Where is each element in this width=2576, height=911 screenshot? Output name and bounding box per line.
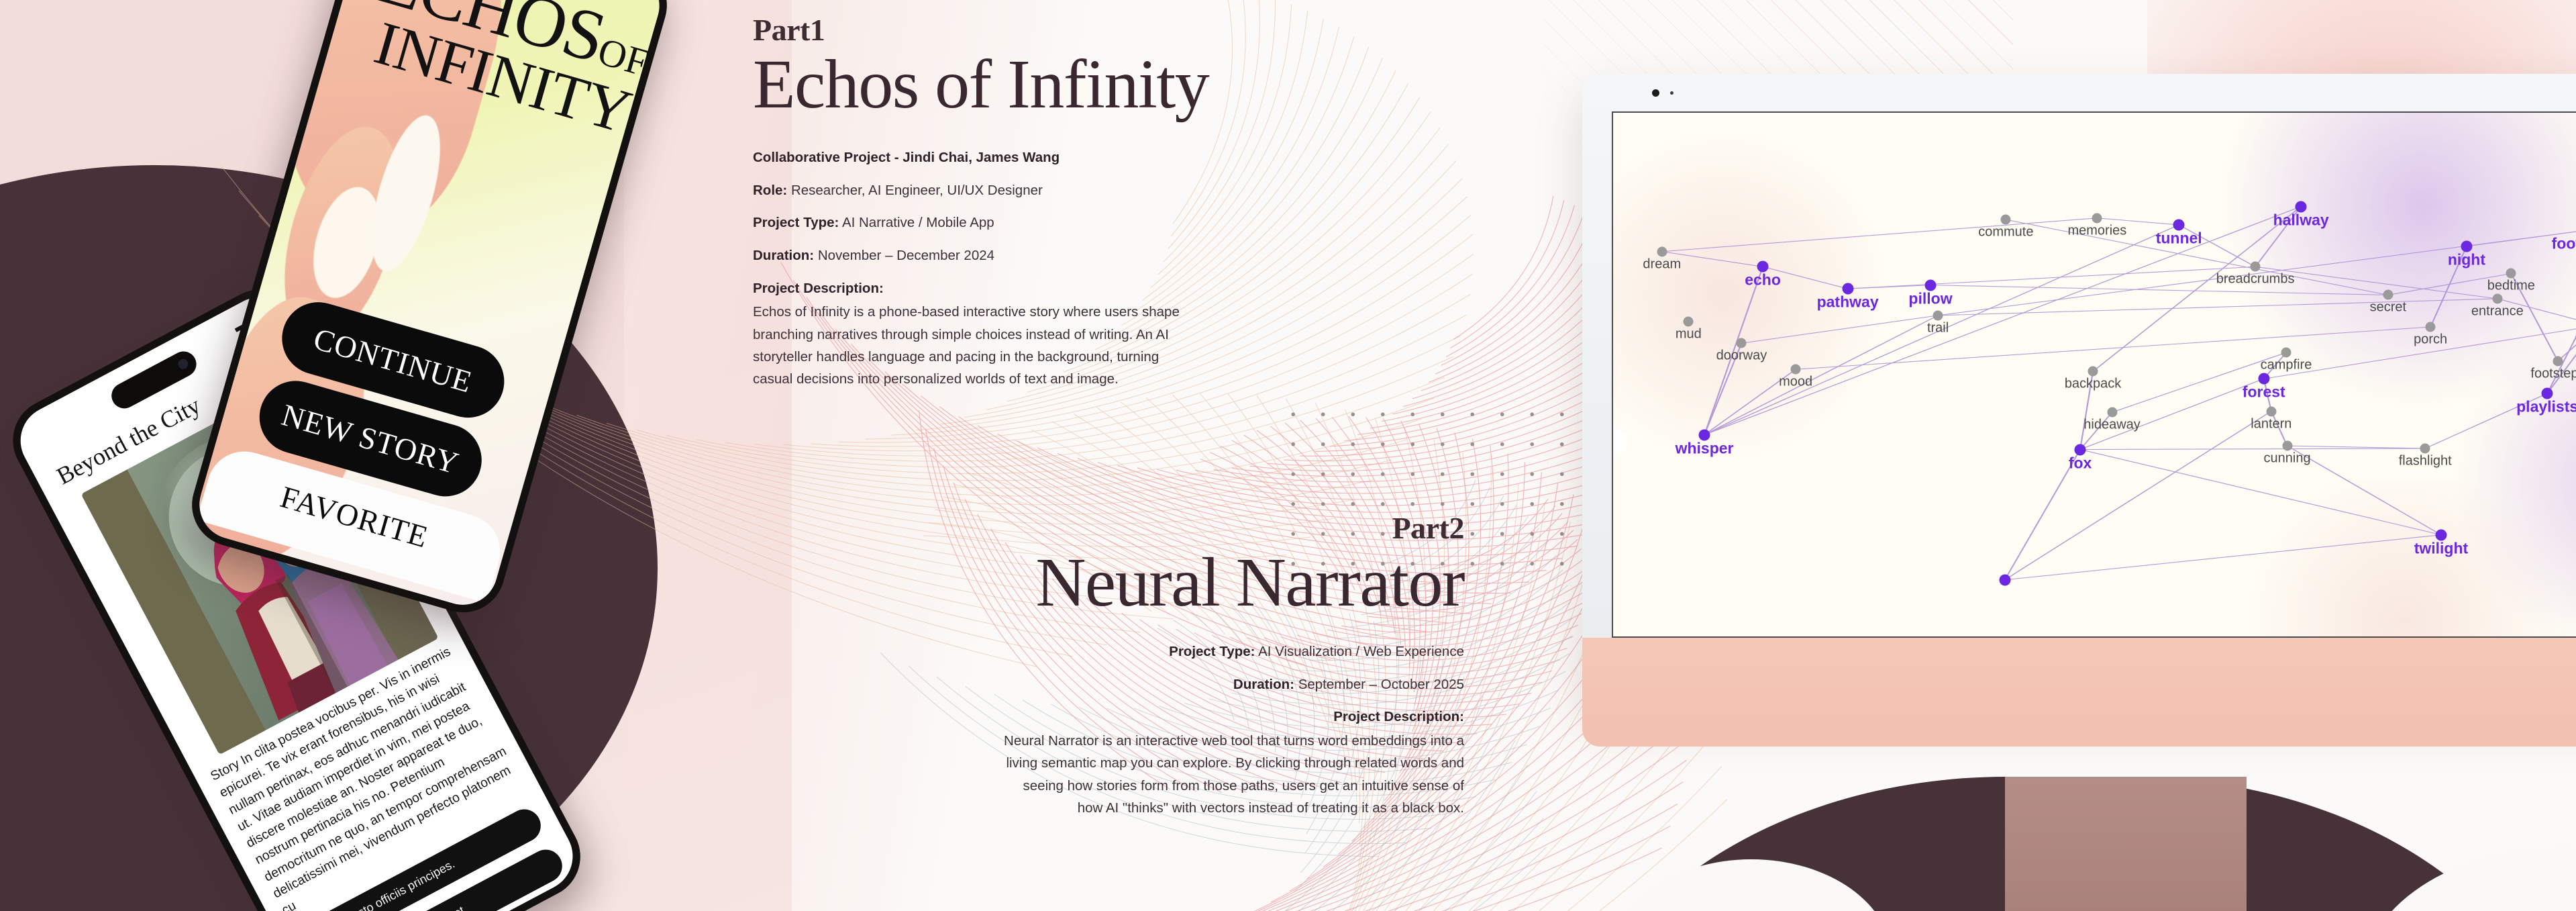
duration-value-2: September – October 2025 xyxy=(1298,677,1464,692)
role-value: Researcher, AI Engineer, UI/UX Designer xyxy=(791,183,1043,198)
part-one-description: Echos of Infinity is a phone-based inter… xyxy=(753,301,1196,390)
node-dot-icon xyxy=(2281,348,2291,358)
map-node-footsteps[interactable]: footsteps xyxy=(2553,356,2563,366)
node-label: footprints xyxy=(2552,234,2576,252)
node-label: pathway xyxy=(1817,293,1879,311)
project-type-label: Project Type: xyxy=(753,215,839,230)
project-type-value-2: AI Visualization / Web Experience xyxy=(1258,644,1464,659)
collaborators-text: Collaborative Project - Jindi Chai, Jame… xyxy=(753,150,1060,165)
node-label: trail xyxy=(1927,320,1949,336)
map-node-pathway[interactable]: pathway xyxy=(1842,283,1853,295)
poster-canvas: Part1 Echos of Infinity Collaborative Pr… xyxy=(0,0,2576,911)
duration-label: Duration: xyxy=(753,248,814,263)
node-label: mud xyxy=(1676,327,1702,342)
node-dot-icon xyxy=(1657,246,1667,256)
map-node-commute[interactable]: commute xyxy=(2001,215,2011,225)
map-node-breadcrumbs[interactable]: breadcrumbs xyxy=(2251,262,2261,272)
node-label: cunning xyxy=(2264,451,2311,467)
map-node-cunning[interactable]: cunning xyxy=(2282,441,2292,451)
node-dot-icon xyxy=(2092,213,2102,223)
part-one-type: Project Type: AI Narrative / Mobile App xyxy=(753,213,1208,232)
map-node-porch[interactable]: porch xyxy=(2426,322,2436,332)
map-node-tunnel[interactable]: tunnel xyxy=(2173,219,2185,230)
part-one-kicker: Part1 xyxy=(753,12,1208,48)
node-dot-icon xyxy=(1684,317,1694,327)
map-node-backpack[interactable]: backpack xyxy=(2088,367,2098,377)
map-node-memories[interactable]: memories xyxy=(2092,213,2102,223)
imac-top-indicators xyxy=(1582,74,2576,111)
node-label: night xyxy=(2448,250,2485,269)
node-label: breadcrumbs xyxy=(2216,272,2295,287)
map-node-twilight[interactable]: twilight xyxy=(2435,529,2446,540)
node-label: entrance xyxy=(2471,303,2524,319)
description-label: Project Description: xyxy=(753,281,884,296)
map-node-mood[interactable]: mood xyxy=(1791,365,1801,375)
map-node-node-a[interactable] xyxy=(1999,574,2010,585)
node-label: fox xyxy=(2069,454,2092,472)
node-label: twilight xyxy=(2414,539,2468,557)
map-node-hideaway[interactable]: hideaway xyxy=(2107,407,2117,418)
node-label: hideaway xyxy=(2083,418,2141,433)
map-node-forest[interactable]: forest xyxy=(2258,373,2269,385)
part-two-duration: Duration: September – October 2025 xyxy=(753,675,1464,694)
part-two-description-label: Project Description: xyxy=(753,708,1464,726)
node-label: echo xyxy=(1745,271,1781,289)
node-dot-icon xyxy=(2107,407,2117,418)
camera-dot-icon xyxy=(1652,89,1659,97)
map-node-hallway[interactable]: hallway xyxy=(2296,201,2307,212)
map-node-flashlight[interactable]: flashlight xyxy=(2420,443,2430,453)
node-dot-icon xyxy=(1737,338,1747,348)
node-label: memories xyxy=(2067,223,2126,238)
node-dot-icon xyxy=(1791,365,1801,375)
text-column: Part1 Echos of Infinity Collaborative Pr… xyxy=(753,0,1464,911)
node-label: doorway xyxy=(1716,348,1767,364)
part-two-title: Neural Narrator xyxy=(753,547,1464,618)
part-two-description: Neural Narrator is an interactive web to… xyxy=(994,730,1464,819)
node-dot-icon xyxy=(2426,322,2436,332)
node-label: porch xyxy=(2414,332,2447,348)
node-dot-icon xyxy=(2553,356,2563,366)
node-dot-icon xyxy=(2420,443,2430,453)
part-one-collaborators: Collaborative Project - Jindi Chai, Jame… xyxy=(753,148,1208,167)
node-label: mood xyxy=(1779,375,1812,390)
node-label: campfire xyxy=(2261,358,2312,373)
map-node-entrance[interactable]: entrance xyxy=(2492,293,2502,303)
map-node-echo[interactable]: echo xyxy=(1757,261,1769,273)
duration-value: November – December 2024 xyxy=(818,248,994,263)
imac-screen: dreamechopathwaypillowmuddoorwaymoodwhis… xyxy=(1612,111,2576,638)
map-node-mud[interactable]: mud xyxy=(1684,317,1694,327)
node-label: secret xyxy=(2370,300,2406,316)
node-label: commute xyxy=(1978,225,2033,240)
imac-stand xyxy=(2005,777,2247,911)
node-label: bedtime xyxy=(2487,279,2535,294)
node-label: flashlight xyxy=(2399,453,2452,469)
part-two-type: Project Type: AI Visualization / Web Exp… xyxy=(753,642,1464,661)
imac-chin xyxy=(1582,638,2576,747)
node-dot-icon xyxy=(2251,262,2261,272)
node-label: pillow xyxy=(1908,289,1952,307)
part-one-duration: Duration: November – December 2024 xyxy=(753,246,1208,265)
node-dot-icon xyxy=(1933,310,1943,320)
map-node-trail[interactable]: trail xyxy=(1933,310,1943,320)
status-dot-icon xyxy=(1670,91,1673,95)
node-dot-icon xyxy=(2506,269,2516,279)
node-dot-icon xyxy=(2088,367,2098,377)
map-node-night[interactable]: night xyxy=(2461,240,2472,252)
node-label: hallway xyxy=(2273,211,2329,229)
map-node-lantern[interactable]: lantern xyxy=(2266,406,2276,416)
map-node-pillow[interactable]: pillow xyxy=(1925,279,1937,291)
node-dot-icon xyxy=(2282,441,2292,451)
map-node-playlists[interactable]: playlists xyxy=(2542,388,2553,399)
part-one-description-label: Project Description: xyxy=(753,279,1208,298)
map-node-dream[interactable]: dream xyxy=(1657,246,1667,256)
node-label: backpack xyxy=(2065,377,2122,392)
node-label: playlists xyxy=(2516,398,2576,416)
node-label: lantern xyxy=(2251,416,2291,432)
map-node-secret[interactable]: secret xyxy=(2383,290,2393,300)
node-dot-icon xyxy=(2001,215,2011,225)
node-dot-icon xyxy=(2266,406,2276,416)
map-node-fox[interactable]: fox xyxy=(2075,444,2086,455)
project-type-value: AI Narrative / Mobile App xyxy=(842,215,994,230)
node-label: footsteps xyxy=(2530,366,2576,381)
node-label: whisper xyxy=(1676,439,1734,457)
node-label: forest xyxy=(2243,383,2285,401)
node-label: tunnel xyxy=(2156,229,2202,247)
part-one-title: Echos of Infinity xyxy=(753,49,1208,120)
node-dot-icon xyxy=(2383,290,2393,300)
part-two-kicker: Part2 xyxy=(753,510,1464,546)
map-node-whisper[interactable]: whisper xyxy=(1699,429,1710,440)
project-type-label-2: Project Type: xyxy=(1169,644,1255,659)
part-one-block: Part1 Echos of Infinity Collaborative Pr… xyxy=(753,12,1208,390)
map-node-doorway[interactable]: doorway xyxy=(1737,338,1747,348)
description-label-2: Project Description: xyxy=(1333,709,1464,724)
imac-mockup: dreamechopathwaypillowmuddoorwaymoodwhis… xyxy=(1582,74,2576,705)
duration-label-2: Duration: xyxy=(1233,677,1294,692)
role-label: Role: xyxy=(753,183,787,198)
node-dot-icon xyxy=(2492,293,2502,303)
part-one-role: Role: Researcher, AI Engineer, UI/UX Des… xyxy=(753,181,1208,200)
semantic-map-canvas[interactable]: dreamechopathwaypillowmuddoorwaymoodwhis… xyxy=(1613,113,2576,636)
part-two-block: Part2 Neural Narrator Project Type: AI V… xyxy=(753,510,1464,819)
node-dot-icon xyxy=(1999,574,2010,585)
node-label: dream xyxy=(1643,256,1681,272)
map-node-campfire[interactable]: campfire xyxy=(2281,348,2291,358)
map-node-bedtime[interactable]: bedtime xyxy=(2506,269,2516,279)
